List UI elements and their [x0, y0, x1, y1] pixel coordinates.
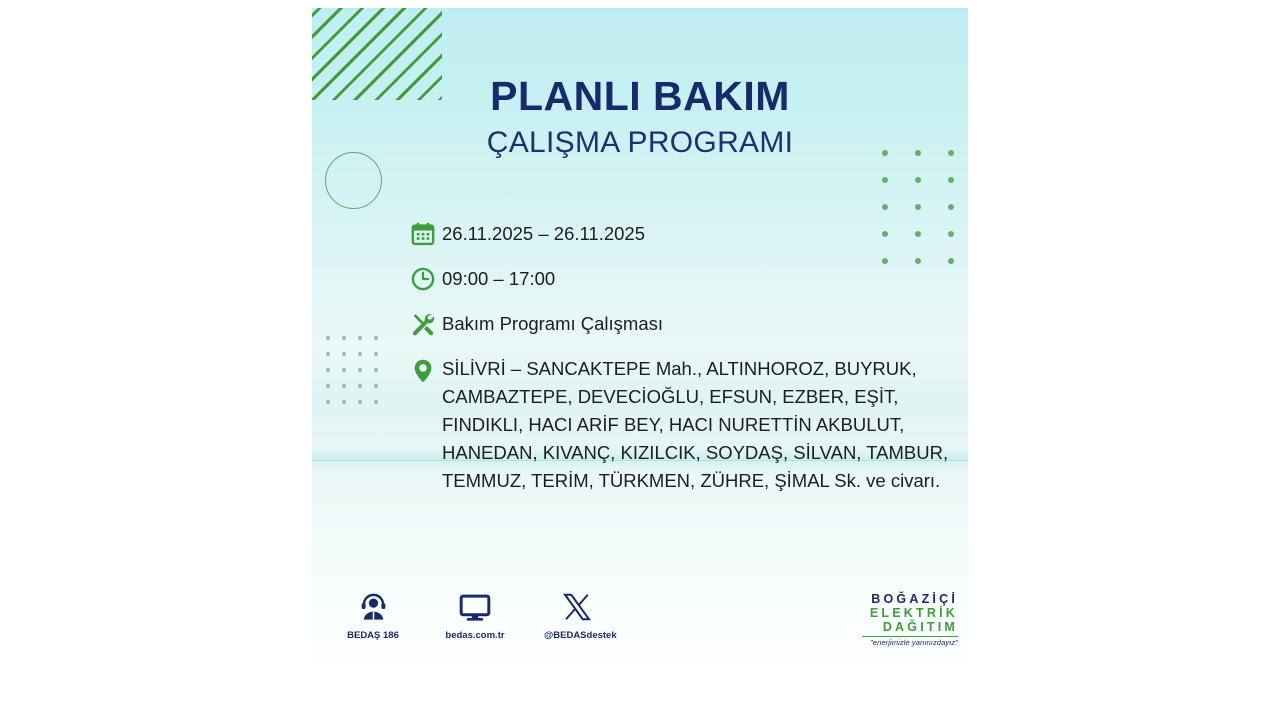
logo-line-dagitim: DAĞITIM — [862, 620, 958, 634]
circle-outline-decoration — [325, 152, 382, 209]
contact-website-label: bedas.com.tr — [442, 630, 508, 641]
date-range-text: 26.11.2025 – 26.11.2025 — [442, 220, 645, 248]
calendar-icon — [404, 220, 442, 247]
page-subtitle: ÇALIŞMA PROGRAMI — [312, 128, 968, 158]
info-row-address: SİLİVRİ – SANCAKTEPE Mah., ALTINHOROZ, B… — [404, 355, 949, 495]
logo-divider — [862, 636, 958, 637]
contact-social[interactable]: @BEDASdestek — [544, 588, 610, 641]
work-type-text: Bakım Programı Çalışması — [442, 310, 663, 338]
footer: BEDAŞ 186 bedas.com.tr — [312, 588, 968, 664]
location-pin-icon — [404, 355, 442, 384]
contact-social-label: @BEDASdestek — [544, 630, 610, 641]
header: PLANLI BAKIM ÇALIŞMA PROGRAMI — [312, 76, 968, 158]
page-root: PLANLI BAKIM ÇALIŞMA PROGRAMI — [0, 0, 1280, 720]
info-row-worktype: Bakım Programı Çalışması — [404, 310, 949, 338]
monitor-icon — [442, 588, 508, 626]
address-text: SİLİVRİ – SANCAKTEPE Mah., ALTINHOROZ, B… — [442, 355, 949, 495]
clock-icon — [404, 265, 442, 292]
contact-list: BEDAŞ 186 bedas.com.tr — [340, 588, 610, 641]
maintenance-notice-card: PLANLI BAKIM ÇALIŞMA PROGRAMI — [312, 8, 968, 664]
tools-icon — [404, 310, 442, 337]
contact-phone[interactable]: BEDAŞ 186 — [340, 588, 406, 641]
logo-line-bogazici: BOĞAZİÇİ — [862, 592, 958, 606]
dot-grid-left-decoration — [320, 330, 384, 410]
page-title: PLANLI BAKIM — [312, 76, 968, 117]
logo-tagline: "enerjimizle yanınızdayız" — [862, 638, 958, 647]
bedas-logo: BOĞAZİÇİ ELEKTRİK DAĞITIM "enerjimizle y… — [862, 592, 958, 647]
info-list: 26.11.2025 – 26.11.2025 09:00 – 17:00 — [404, 220, 949, 495]
info-row-date: 26.11.2025 – 26.11.2025 — [404, 220, 949, 248]
support-agent-icon — [340, 588, 406, 626]
contact-website[interactable]: bedas.com.tr — [442, 588, 508, 641]
contact-phone-label: BEDAŞ 186 — [340, 630, 406, 641]
info-row-time: 09:00 – 17:00 — [404, 265, 949, 293]
time-range-text: 09:00 – 17:00 — [442, 265, 555, 293]
x-twitter-icon — [544, 588, 610, 626]
logo-line-elektrik: ELEKTRİK — [862, 606, 958, 620]
